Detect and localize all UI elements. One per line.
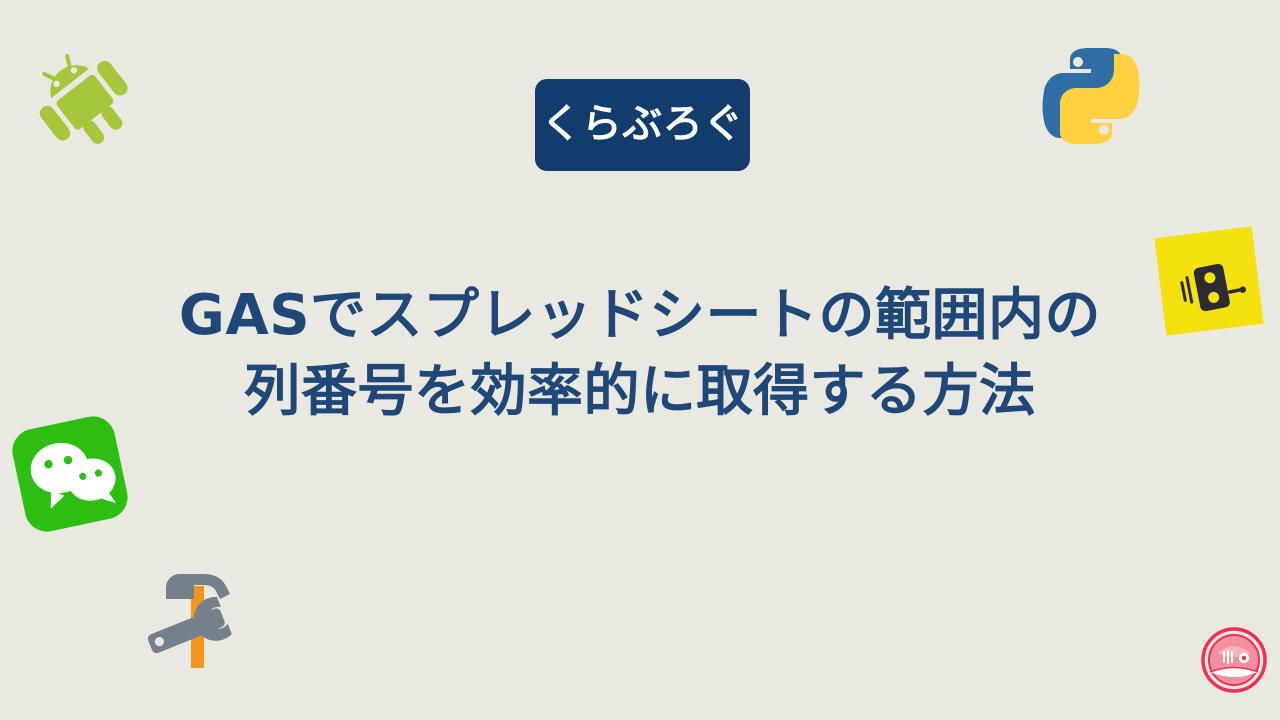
page-title-line-1: GASでスプレッドシートの範囲内の bbox=[0, 278, 1280, 354]
page-title-line-2: 列番号を効率的に取得する方法 bbox=[0, 354, 1280, 430]
mascot-badge-icon bbox=[1196, 622, 1272, 698]
python-logo-icon bbox=[1030, 36, 1152, 156]
page-title: GASでスプレッドシートの範囲内の 列番号を効率的に取得する方法 bbox=[0, 278, 1280, 430]
brand-logo-badge: くらぶろぐ bbox=[535, 79, 750, 171]
brand-logo-text: くらぶろぐ bbox=[541, 104, 744, 144]
android-logo-icon bbox=[18, 36, 142, 156]
eyecatch-card: くらぶろぐ GASでスプレッドシートの範囲内の 列番号を効率的に取得する方法 bbox=[0, 0, 1280, 720]
hammer-wrench-tools-icon bbox=[142, 552, 264, 668]
